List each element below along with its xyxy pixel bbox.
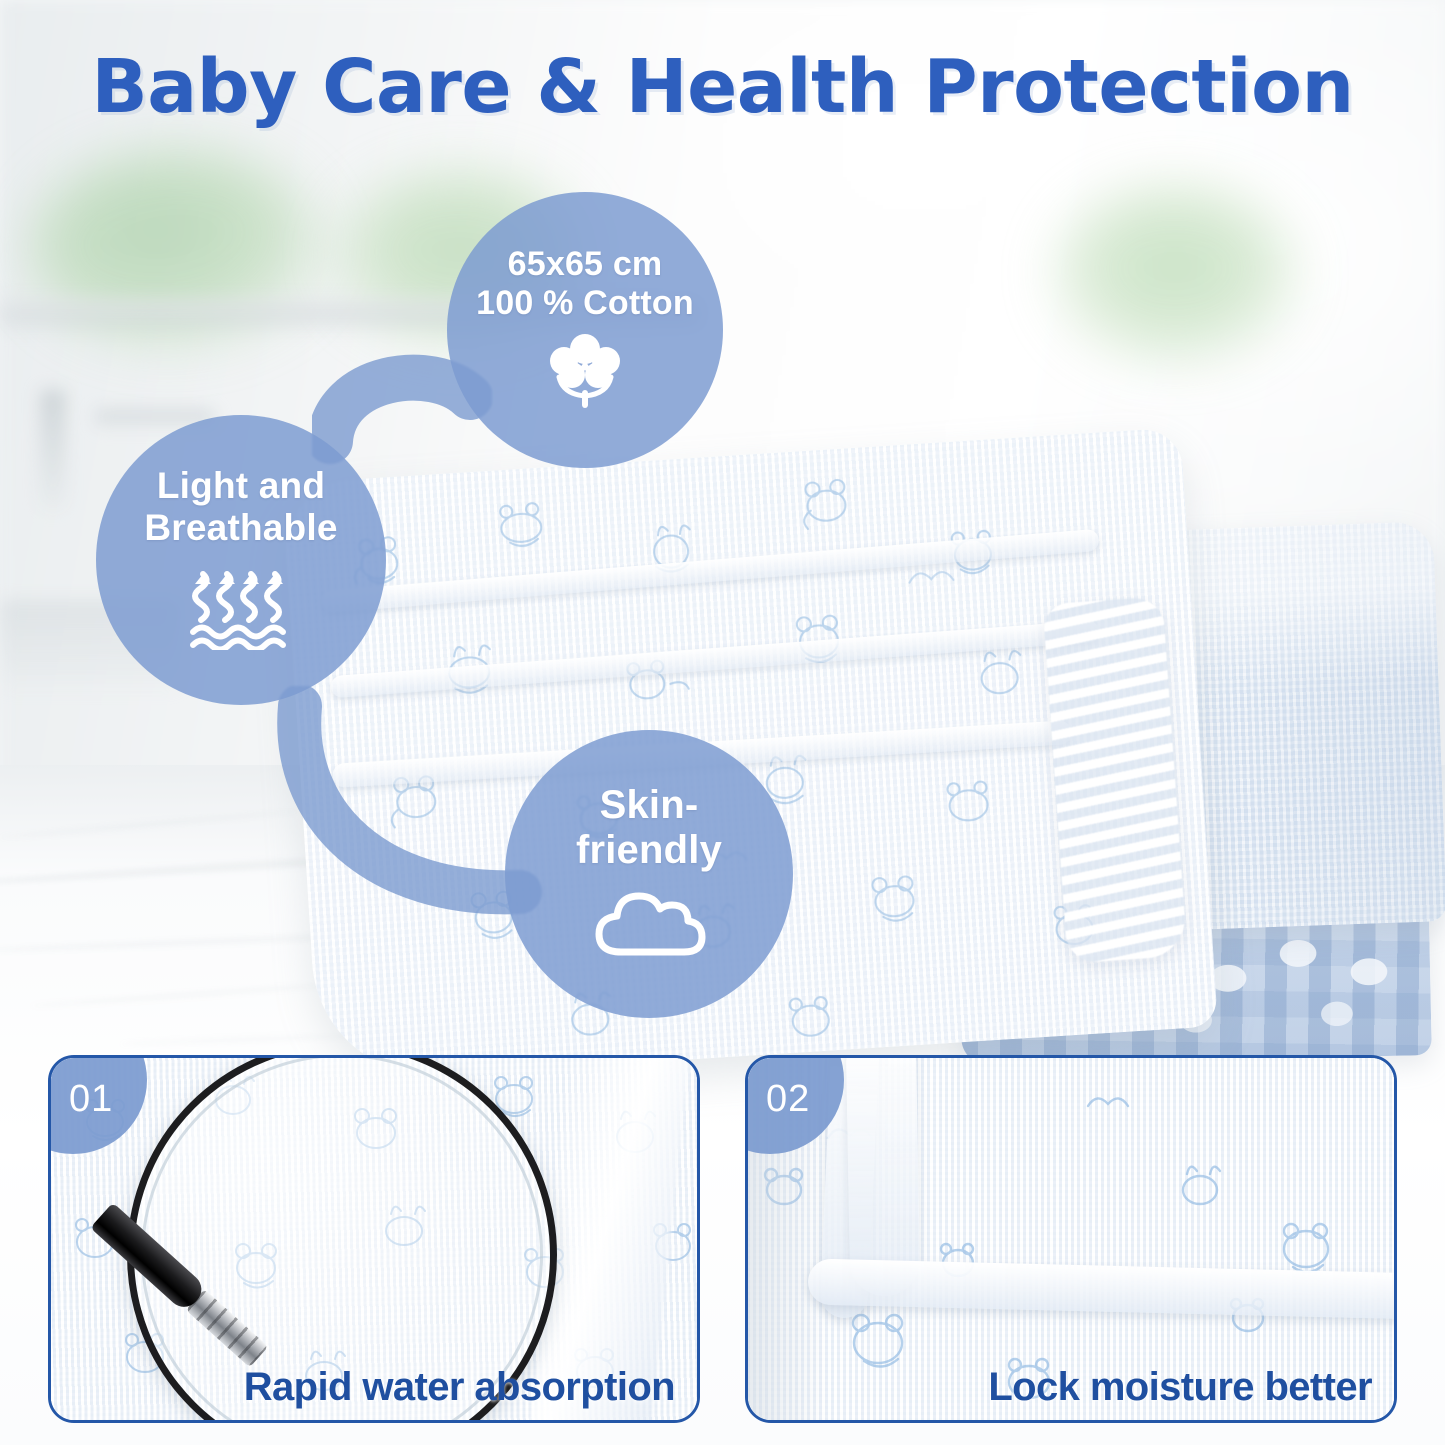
- page-title: Baby Care & Health Protection: [0, 44, 1445, 130]
- cloud-icon: [591, 882, 707, 965]
- badge-skin-line2: friendly: [576, 828, 722, 873]
- cotton-flower-icon: [545, 332, 625, 415]
- cloth-gathered-edge: [1043, 596, 1188, 963]
- detail-panels: 01 Rapid water absorption: [48, 1055, 1397, 1423]
- badge-cotton-line1: 65x65 cm: [508, 245, 663, 283]
- badge-cotton-line2: 100 % Cotton: [476, 284, 694, 322]
- badge-skin-line1: Skin-: [600, 783, 699, 828]
- product-infographic: 65x65 cm 100 % Cotton Light and Breathab…: [0, 0, 1445, 1445]
- badge-light-and-breathable: Light and Breathable: [96, 415, 386, 705]
- badge-skin-friendly: Skin- friendly: [505, 730, 793, 1018]
- panel-02-caption: Lock moisture better: [988, 1365, 1372, 1410]
- badge-breathable-line2: Breathable: [144, 507, 337, 548]
- panel-01-number: 01: [69, 1078, 113, 1121]
- detail-panel-01[interactable]: 01 Rapid water absorption: [48, 1055, 700, 1423]
- airflow-waves-icon: [185, 558, 297, 655]
- panel-02-number: 02: [766, 1078, 810, 1121]
- panel-01-caption: Rapid water absorption: [244, 1365, 675, 1410]
- badge-cotton-spec: 65x65 cm 100 % Cotton: [447, 192, 723, 468]
- badge-breathable-line1: Light and: [157, 465, 325, 506]
- detail-panel-02[interactable]: 02 Lock moisture better: [745, 1055, 1397, 1423]
